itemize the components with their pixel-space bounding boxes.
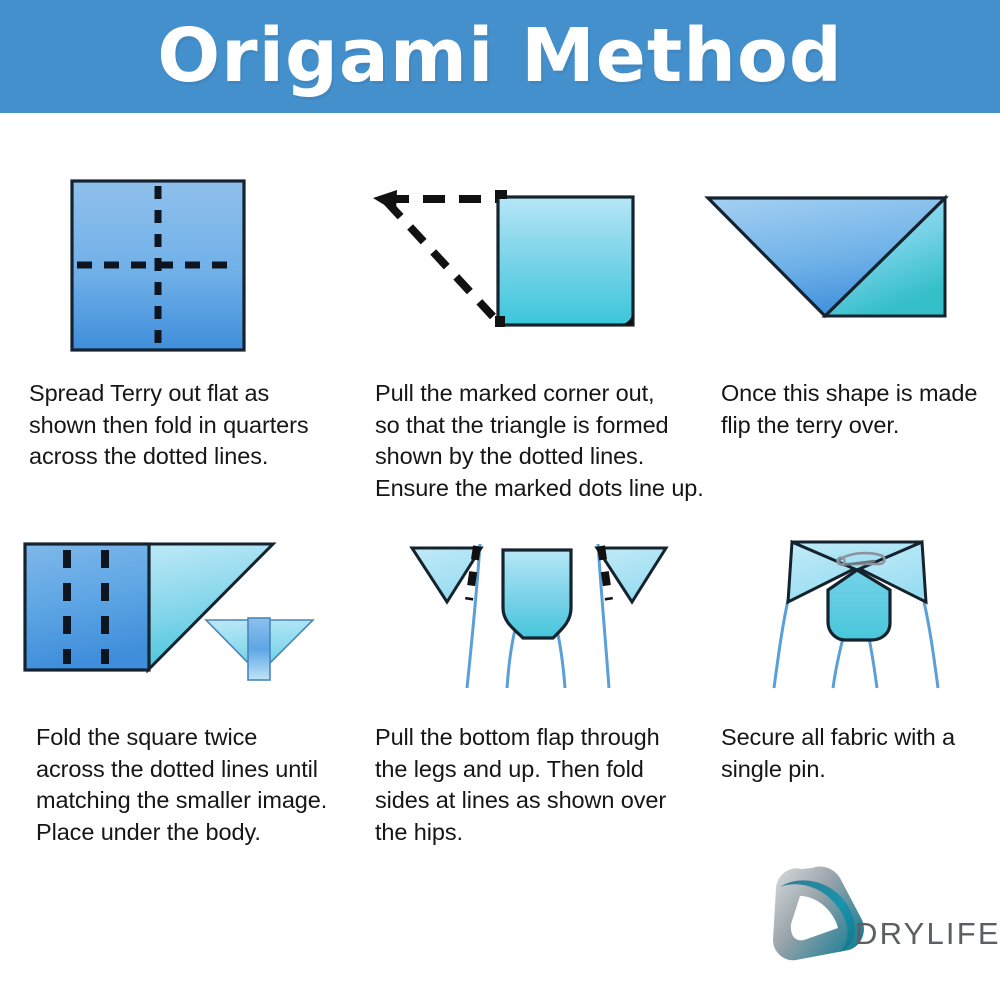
- caption-line: flip the terry over.: [721, 410, 977, 442]
- caption-line: across the dotted lines.: [29, 441, 308, 473]
- caption-line: single pin.: [721, 754, 955, 786]
- caption-step-2: Pull the marked corner out, so that the …: [375, 378, 704, 504]
- figure-square-folded-twice-with-inset: [20, 532, 340, 697]
- marked-dot-lower-left: [495, 316, 505, 327]
- caption-line: so that the triangle is formed: [375, 410, 704, 442]
- header-banner: Origami Method: [0, 0, 1000, 113]
- caption-step-4: Fold the square twice across the dotted …: [36, 722, 327, 848]
- caption-line: Secure all fabric with a: [721, 722, 955, 754]
- step-3: Once this shape is made flip the terry o…: [695, 150, 1000, 510]
- marked-corner-dot: [373, 190, 397, 212]
- infographic-page: Origami Method Spread Terry out flat as …: [0, 0, 1000, 1000]
- step-2: Pull the marked corner out, so that the …: [345, 150, 695, 510]
- step-1: Spread Terry out flat as shown then fold…: [0, 150, 345, 510]
- page-title: Origami Method: [0, 8, 1000, 104]
- flat-square-diagram: [65, 175, 265, 375]
- caption-line: Place under the body.: [36, 817, 327, 849]
- caption-step-5: Pull the bottom flap through the legs an…: [375, 722, 666, 848]
- step-5: Pull the bottom flap through the legs an…: [345, 510, 695, 870]
- caption-line: Once this shape is made: [721, 378, 977, 410]
- flipped-triangle-diagram: [700, 190, 960, 330]
- caption-line: Ensure the marked dots line up.: [375, 473, 704, 505]
- right-inner-leg-outline: [869, 638, 877, 688]
- figure-secured-with-safety-pin: [750, 528, 985, 698]
- brand-name: DRYLIFE: [855, 916, 1000, 952]
- caption-line: shown by the dotted lines.: [375, 441, 704, 473]
- step-6: Secure all fabric with a single pin.: [695, 510, 1000, 870]
- caption-line: Spread Terry out flat as: [29, 378, 308, 410]
- folded-square-diagram: [20, 532, 340, 692]
- center-flap: [503, 550, 571, 638]
- figure-square-with-dashed-corner-triangle: [365, 182, 655, 362]
- left-inner-leg-outline: [833, 638, 843, 688]
- terry-square: [498, 197, 633, 325]
- figure-flap-pulled-through-legs: [385, 530, 685, 700]
- caption-line: the legs and up. Then fold: [375, 754, 666, 786]
- corner-pull-diagram: [365, 182, 655, 357]
- drylife-triangle-swoosh-icon: [760, 862, 870, 967]
- pinned-nappy-diagram: [750, 528, 985, 693]
- caption-step-3: Once this shape is made flip the terry o…: [721, 378, 977, 441]
- inset-result-shape: [206, 618, 313, 680]
- dashed-diagonal-line: [387, 202, 498, 322]
- figure-folded-triangle-shape: [700, 190, 960, 335]
- folded-square: [25, 544, 149, 670]
- flap-through-legs-diagram: [385, 530, 685, 695]
- right-leg-outline: [924, 602, 938, 688]
- caption-line: Pull the marked corner out,: [375, 378, 704, 410]
- left-leg-outline: [774, 600, 788, 688]
- caption-line: shown then fold in quarters: [29, 410, 308, 442]
- caption-line: Fold the square twice: [36, 722, 327, 754]
- figure-flat-square-with-quarter-fold-lines: [65, 175, 265, 380]
- step-4: Fold the square twice across the dotted …: [0, 510, 345, 870]
- caption-line: the hips.: [375, 817, 666, 849]
- marked-dot-top-left: [495, 190, 507, 199]
- caption-line: across the dotted lines until: [36, 754, 327, 786]
- caption-step-1: Spread Terry out flat as shown then fold…: [29, 378, 308, 473]
- inset-center-strip: [248, 618, 270, 680]
- caption-line: Pull the bottom flap through: [375, 722, 666, 754]
- brand-logo: DRYLIFE: [760, 862, 985, 967]
- caption-step-6: Secure all fabric with a single pin.: [721, 722, 955, 785]
- caption-line: sides at lines as shown over: [375, 785, 666, 817]
- caption-line: matching the smaller image.: [36, 785, 327, 817]
